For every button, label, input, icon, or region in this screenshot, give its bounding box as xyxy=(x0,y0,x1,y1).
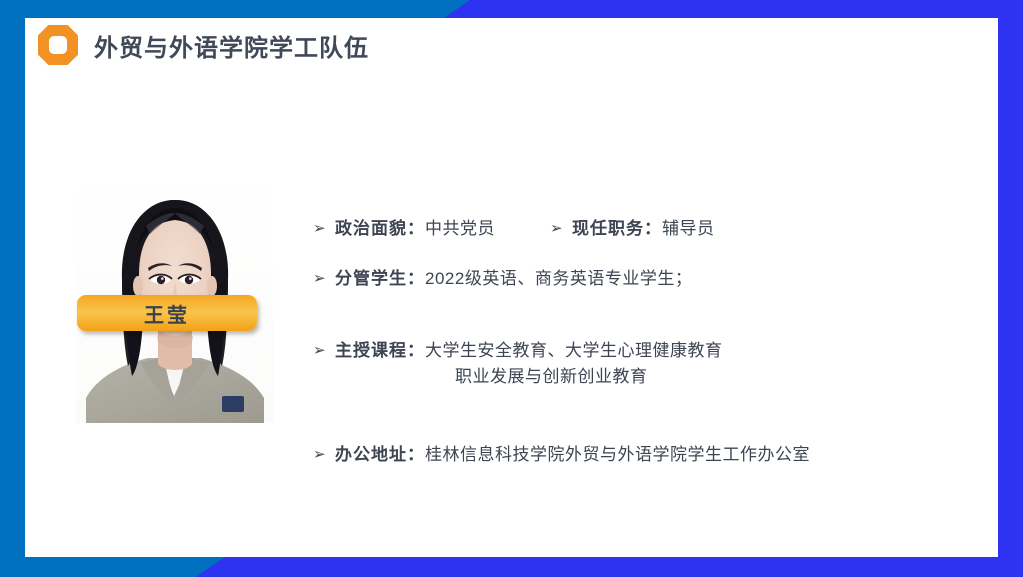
octagon-logo-icon xyxy=(38,25,78,65)
name-badge: 王莹 xyxy=(77,295,257,331)
bullet-arrow-icon: ➢ xyxy=(313,442,335,468)
bullet-arrow-icon: ➢ xyxy=(313,338,335,364)
info-row-office-address: ➢ 办公地址： 桂林信息科技学院外贸与外语学院学生工作办公室 xyxy=(313,442,810,468)
info-label: 现任职务： xyxy=(572,216,662,242)
slide-canvas: 外贸与外语学院学工队伍 xyxy=(0,0,1023,577)
background-top-wedge xyxy=(0,0,470,18)
info-row-managed-students: ➢ 分管学生： 2022级英语、商务英语专业学生； xyxy=(313,266,692,292)
background-bottom-wedge xyxy=(0,557,225,577)
info-label: 主授课程： xyxy=(335,338,425,364)
bullet-arrow-icon: ➢ xyxy=(550,216,572,242)
bullet-arrow-icon: ➢ xyxy=(313,216,335,242)
bullet-arrow-icon: ➢ xyxy=(313,266,335,292)
info-row-courses-continued: 职业发展与创新创业教育 xyxy=(433,364,648,390)
info-label: 分管学生： xyxy=(335,266,425,292)
info-row-political-status: ➢ 政治面貌： 中共党员 xyxy=(313,216,495,242)
background-left-bar xyxy=(0,0,25,577)
info-value: 大学生安全教育、大学生心理健康教育 xyxy=(425,338,723,364)
page-title: 外贸与外语学院学工队伍 xyxy=(94,28,369,63)
info-value: 2022级英语、商务英语专业学生； xyxy=(425,266,692,292)
info-label: 办公地址： xyxy=(335,442,425,468)
info-value: 桂林信息科技学院外贸与外语学院学生工作办公室 xyxy=(425,442,810,468)
info-value: 中共党员 xyxy=(425,216,495,242)
info-label: 政治面貌： xyxy=(335,216,425,242)
info-value: 辅导员 xyxy=(662,216,715,242)
info-row-current-position: ➢ 现任职务： 辅导员 xyxy=(550,216,715,242)
info-row-courses: ➢ 主授课程： 大学生安全教育、大学生心理健康教育 xyxy=(313,338,723,364)
header: 外贸与外语学院学工队伍 xyxy=(38,25,369,65)
content-card: 外贸与外语学院学工队伍 xyxy=(25,18,998,557)
profile-name: 王莹 xyxy=(144,299,190,328)
